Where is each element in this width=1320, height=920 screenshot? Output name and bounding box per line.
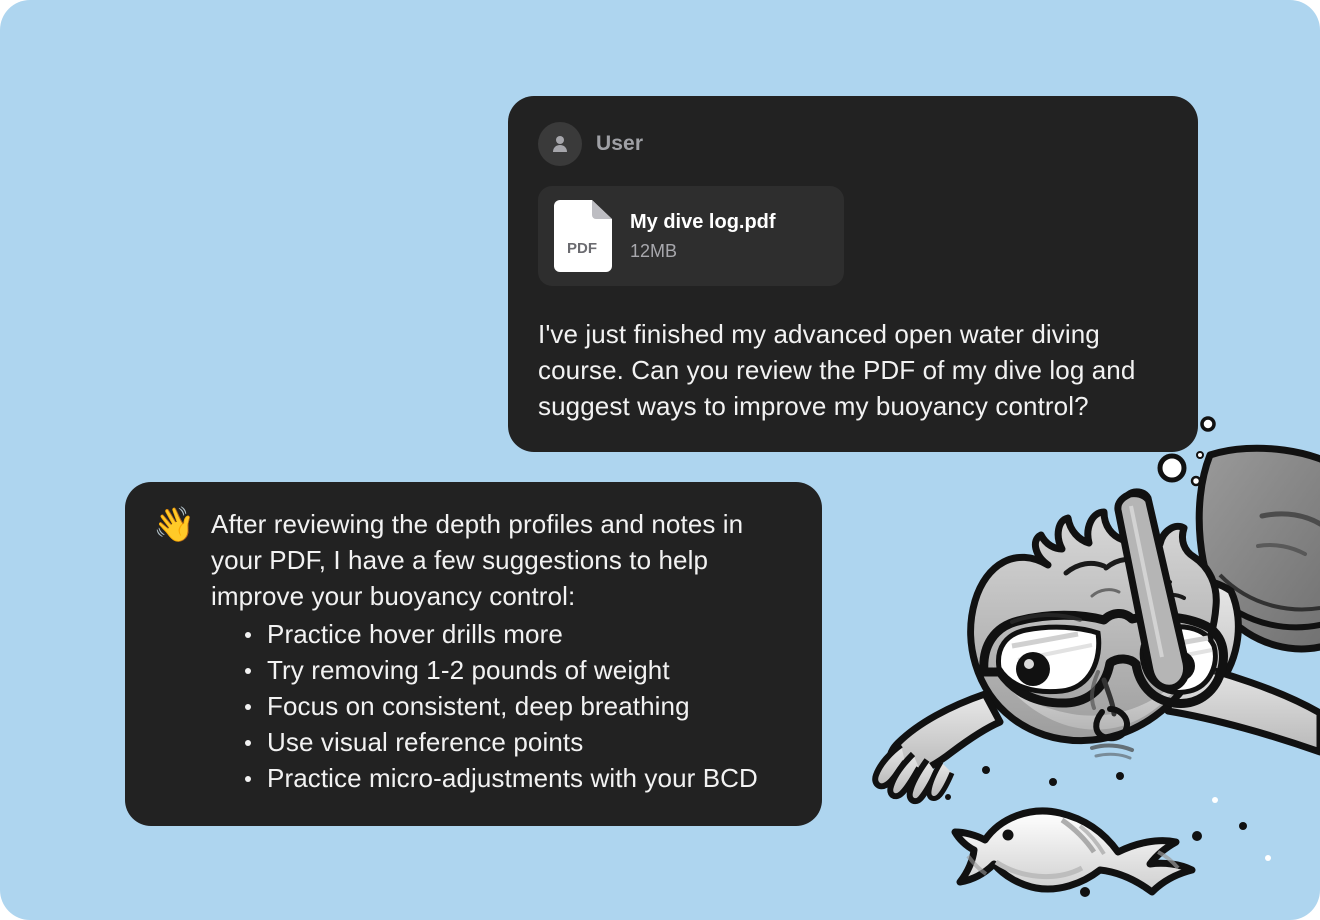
snorkel	[1118, 492, 1187, 688]
pdf-file-icon: PDF	[554, 200, 612, 272]
snorkeler-left-arm	[875, 694, 1000, 801]
assistant-intro: 👋 After reviewing the depth profiles and…	[153, 506, 794, 614]
file-meta: My dive log.pdf 12MB	[630, 211, 776, 262]
list-item: Practice hover drills more	[267, 616, 794, 652]
svg-text:PDF: PDF	[567, 240, 597, 257]
assistant-message-bubble: 👋 After reviewing the depth profiles and…	[125, 482, 822, 826]
waving-hand-emoji: 👋	[153, 506, 211, 543]
person-avatar-icon	[538, 122, 582, 166]
user-message-bubble: User PDF My dive log.pdf 12MB I've just …	[508, 96, 1198, 452]
list-item: Focus on consistent, deep breathing	[267, 688, 794, 724]
file-name: My dive log.pdf	[630, 211, 776, 234]
file-size: 12MB	[630, 241, 776, 262]
snorkeler-body	[1103, 448, 1320, 752]
list-item: Use visual reference points	[267, 724, 794, 760]
pdf-attachment-card[interactable]: PDF My dive log.pdf 12MB	[538, 186, 844, 286]
air-bubbles	[945, 383, 1271, 897]
suggestions-list: Practice hover drills more Try removing …	[153, 616, 794, 796]
user-message-text: I've just finished my advanced open wate…	[538, 316, 1168, 424]
screenshot-canvas: User PDF My dive log.pdf 12MB I've just …	[0, 0, 1320, 920]
user-header: User	[538, 122, 1168, 166]
snorkeler-head	[971, 512, 1224, 758]
list-item: Practice micro-adjustments with your BCD	[267, 760, 794, 796]
list-item: Try removing 1-2 pounds of weight	[267, 652, 794, 688]
assistant-paragraph: After reviewing the depth profiles and n…	[211, 506, 794, 614]
fish	[955, 811, 1192, 892]
sender-name: User	[596, 132, 643, 156]
